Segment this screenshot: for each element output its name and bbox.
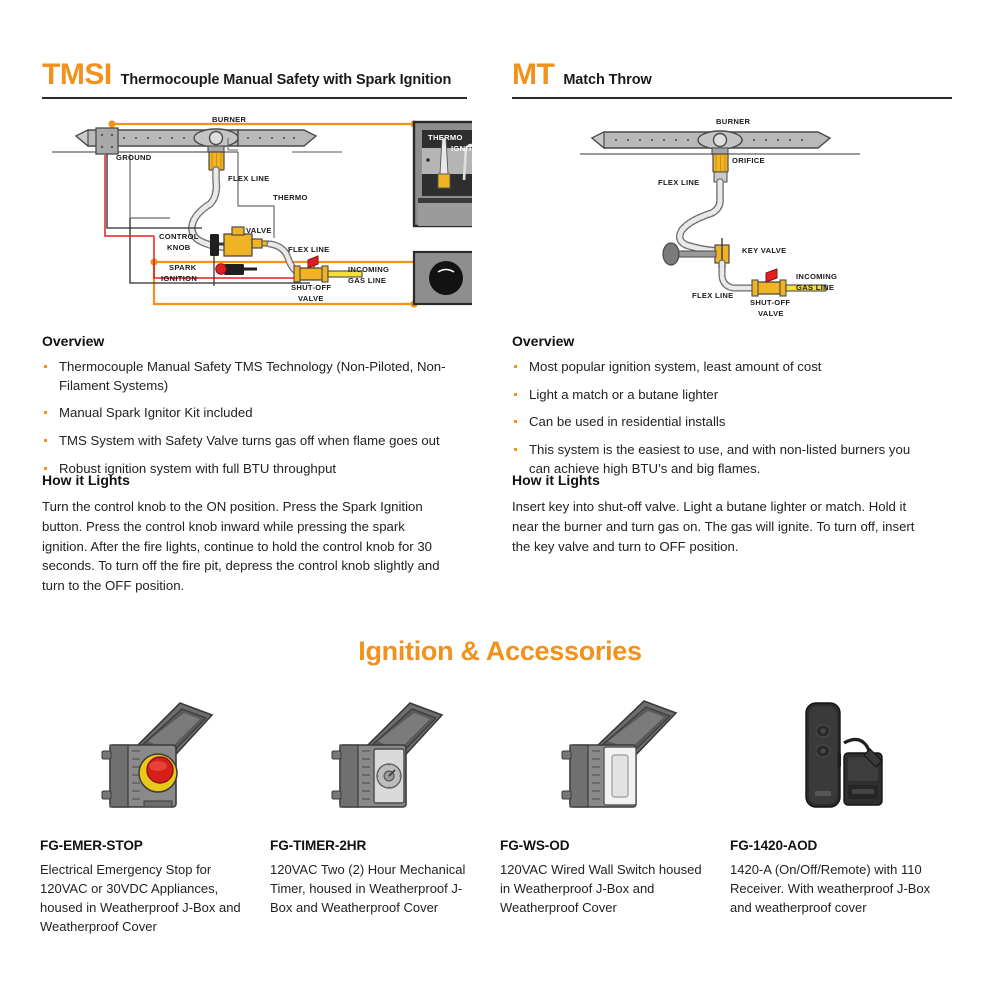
- accessory-card[interactable]: FG-1420-AOD 1420-A (On/Off/Remote) with …: [730, 690, 960, 936]
- label-panel-ignition: IGNITION: [451, 144, 487, 153]
- label-flex-line-1: FLEX LINE: [658, 178, 700, 187]
- accessory-card[interactable]: FG-TIMER-2HR 120VAC Two (2) Hour Mechani…: [270, 690, 500, 936]
- mt-divider: [512, 97, 952, 99]
- label-control-knob-line1: CONTROL: [159, 232, 199, 241]
- mt-overview-list: Most popular ignition system, least amou…: [512, 358, 932, 479]
- remote-and-receiver-icon: [770, 693, 920, 818]
- list-item: Light a match or a butane lighter: [512, 386, 932, 405]
- system-block-mt: MT Match Throw: [512, 60, 952, 99]
- accessory-description: 1420-A (On/Off/Remote) with 110 Receiver…: [730, 861, 960, 918]
- accessory-sku: FG-WS-OD: [500, 838, 730, 853]
- label-thermo: THERMO: [273, 193, 308, 202]
- accessory-card[interactable]: FG-WS-OD 120VAC Wired Wall Switch housed…: [500, 690, 730, 936]
- label-incoming-line2: GAS LINE: [796, 283, 834, 292]
- label-shutoff-line2: VALVE: [758, 309, 784, 318]
- mt-code: MT: [512, 60, 554, 90]
- label-flex-line-1: FLEX LINE: [228, 174, 270, 183]
- mt-diagram: BURNER ORIFICE FLEX LINE KEY VALVE FLEX …: [570, 108, 890, 308]
- wall-switch-jbox-icon: [540, 693, 690, 818]
- label-orifice: ORIFICE: [732, 156, 765, 165]
- label-shutoff-line2: VALVE: [298, 294, 324, 303]
- accessory-description: 120VAC Two (2) Hour Mechanical Timer, ho…: [270, 861, 500, 918]
- mt-overview-title: Overview: [512, 333, 932, 349]
- accessories-title: Ignition & Accessories: [0, 636, 1000, 667]
- mt-how-title: How it Lights: [512, 472, 917, 488]
- mechanical-timer-jbox-icon: [310, 693, 460, 818]
- label-incoming-line2: GAS LINE: [348, 276, 386, 285]
- label-incoming-line1: INCOMING: [796, 272, 837, 281]
- accessory-sku: FG-TIMER-2HR: [270, 838, 500, 853]
- label-shutoff-line1: SHUT-OFF: [750, 298, 790, 307]
- mechanical-timer-jbox-image: [270, 690, 500, 820]
- label-key-valve: KEY VALVE: [742, 246, 786, 255]
- accessory-sku: FG-EMER-STOP: [40, 838, 270, 853]
- tmsi-overview-list: Thermocouple Manual Safety TMS Technolog…: [42, 358, 462, 479]
- label-burner: BURNER: [212, 115, 246, 124]
- mt-how-text: Insert key into shut-off valve. Light a …: [512, 497, 917, 556]
- label-flex-line-2: FLEX LINE: [692, 291, 734, 300]
- label-panel-thermo: THERMO: [428, 133, 463, 142]
- list-item: Most popular ignition system, least amou…: [512, 358, 932, 377]
- mt-diagram-svg: [570, 108, 890, 308]
- list-item: TMS System with Safety Valve turns gas o…: [42, 432, 462, 451]
- accessory-description: Electrical Emergency Stop for 120VAC or …: [40, 861, 270, 936]
- tmsi-diagram: BURNER GROUND FLEX LINE THERMO CONTROL K…: [42, 108, 472, 308]
- list-item: Manual Spark Ignitor Kit included: [42, 404, 462, 423]
- tmsi-overview-title: Overview: [42, 333, 462, 349]
- remote-and-receiver-image: [730, 690, 960, 820]
- tmsi-how-text: Turn the control knob to the ON position…: [42, 497, 452, 596]
- emergency-stop-jbox-icon: [80, 693, 230, 818]
- wall-switch-jbox-image: [500, 690, 730, 820]
- tmsi-overview: Overview Thermocouple Manual Safety TMS …: [42, 333, 462, 488]
- mt-how-it-lights: How it Lights Insert key into shut-off v…: [512, 472, 917, 556]
- label-ground: GROUND: [116, 153, 152, 162]
- mt-name: Match Throw: [563, 73, 651, 88]
- label-spark-line2: IGNITION: [161, 274, 197, 283]
- label-shutoff-line1: SHUT-OFF: [291, 283, 331, 292]
- mt-header: MT Match Throw: [512, 60, 952, 90]
- tmsi-code: TMSI: [42, 60, 112, 90]
- label-burner: BURNER: [716, 117, 750, 126]
- tmsi-header: TMSI Thermocouple Manual Safety with Spa…: [42, 60, 467, 90]
- list-item: Can be used in residential installs: [512, 413, 932, 432]
- label-flex-line-2: FLEX LINE: [288, 245, 330, 254]
- accessory-card[interactable]: FG-EMER-STOP Electrical Emergency Stop f…: [40, 690, 270, 936]
- tmsi-how-title: How it Lights: [42, 472, 452, 488]
- tmsi-divider: [42, 97, 467, 99]
- system-block-tmsi: TMSI Thermocouple Manual Safety with Spa…: [42, 60, 467, 99]
- tmsi-diagram-svg: [42, 108, 472, 308]
- emergency-stop-jbox-image: [40, 690, 270, 820]
- mt-overview: Overview Most popular ignition system, l…: [512, 333, 932, 488]
- accessories-grid: FG-EMER-STOP Electrical Emergency Stop f…: [40, 690, 965, 936]
- label-valve: VALVE: [246, 226, 272, 235]
- label-spark-line1: SPARK: [169, 263, 197, 272]
- accessory-description: 120VAC Wired Wall Switch housed in Weath…: [500, 861, 730, 918]
- label-incoming-line1: INCOMING: [348, 265, 389, 274]
- list-item: Thermocouple Manual Safety TMS Technolog…: [42, 358, 462, 395]
- label-control-knob-line2: KNOB: [167, 243, 191, 252]
- tmsi-how-it-lights: How it Lights Turn the control knob to t…: [42, 472, 452, 596]
- tmsi-name: Thermocouple Manual Safety with Spark Ig…: [121, 73, 452, 88]
- accessory-sku: FG-1420-AOD: [730, 838, 960, 853]
